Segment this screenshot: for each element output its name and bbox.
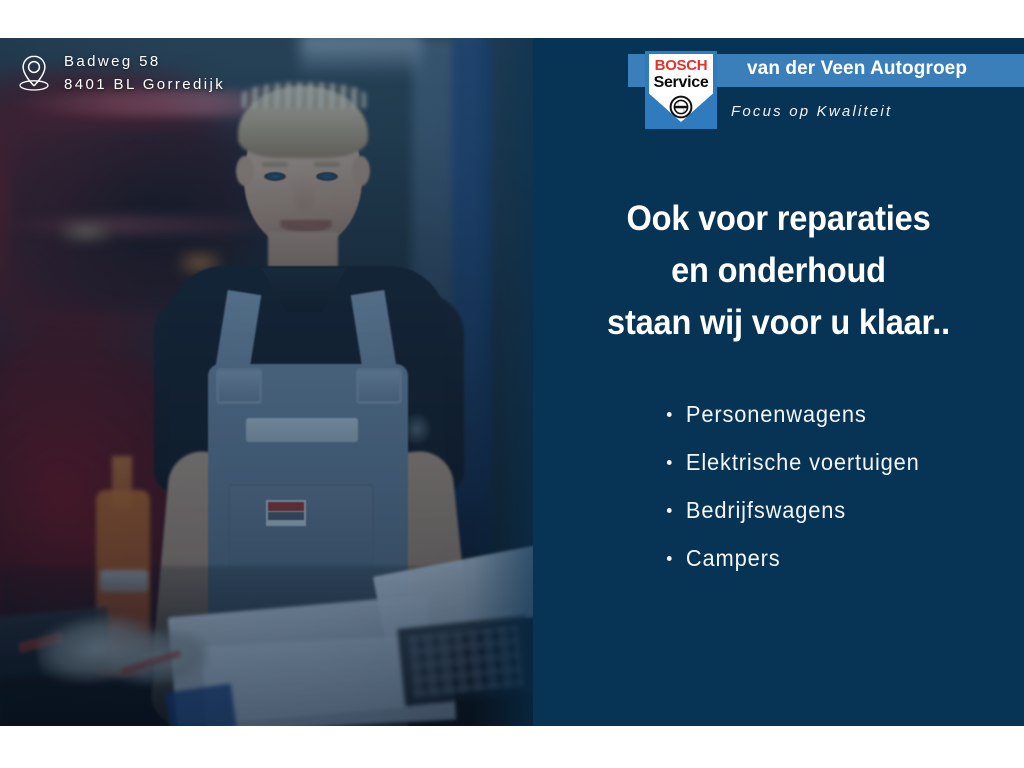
list-item: Elektrische voertuigen xyxy=(665,438,1007,486)
content-panel: BOSCH Service van der Veen Autogroep Foc… xyxy=(533,38,1024,726)
photo-edge-fade xyxy=(473,38,533,726)
headline: Ook voor reparaties en onderhoud staan w… xyxy=(550,193,1007,349)
address-overlay: Badweg 58 8401 BL Gorredijk xyxy=(16,50,225,96)
address-line-2: 8401 BL Gorredijk xyxy=(64,73,225,96)
logo-service-text: Service xyxy=(649,74,713,91)
company-tagline: Focus op Kwaliteit xyxy=(731,103,892,120)
mechanic-photo: Badweg 58 8401 BL Gorredijk xyxy=(0,38,533,726)
company-name: van der Veen Autogroep xyxy=(747,58,967,80)
address-text: Badweg 58 8401 BL Gorredijk xyxy=(64,50,225,96)
headline-line-1: Ook voor reparaties xyxy=(550,193,1007,245)
list-item: Bedrijfswagens xyxy=(665,486,1007,534)
photo-vignette xyxy=(0,38,533,726)
list-item: Campers xyxy=(665,534,1007,582)
photo-scene xyxy=(0,38,533,726)
headline-line-2: en onderhoud xyxy=(550,245,1007,297)
logo-bosch-text: BOSCH xyxy=(649,58,713,74)
location-pin-icon xyxy=(16,53,52,93)
bosch-armature-icon xyxy=(669,95,693,119)
promo-banner: Badweg 58 8401 BL Gorredijk BOSCH Servic… xyxy=(0,38,1024,726)
banner-canvas: Badweg 58 8401 BL Gorredijk BOSCH Servic… xyxy=(0,0,1024,768)
list-item: Personenwagens xyxy=(665,390,1007,438)
address-line-1: Badweg 58 xyxy=(64,50,225,73)
services-list: Personenwagens Elektrische voertuigen Be… xyxy=(665,390,1024,582)
headline-line-3: staan wij voor u klaar.. xyxy=(550,297,1007,349)
bosch-service-logo: BOSCH Service xyxy=(645,51,717,129)
